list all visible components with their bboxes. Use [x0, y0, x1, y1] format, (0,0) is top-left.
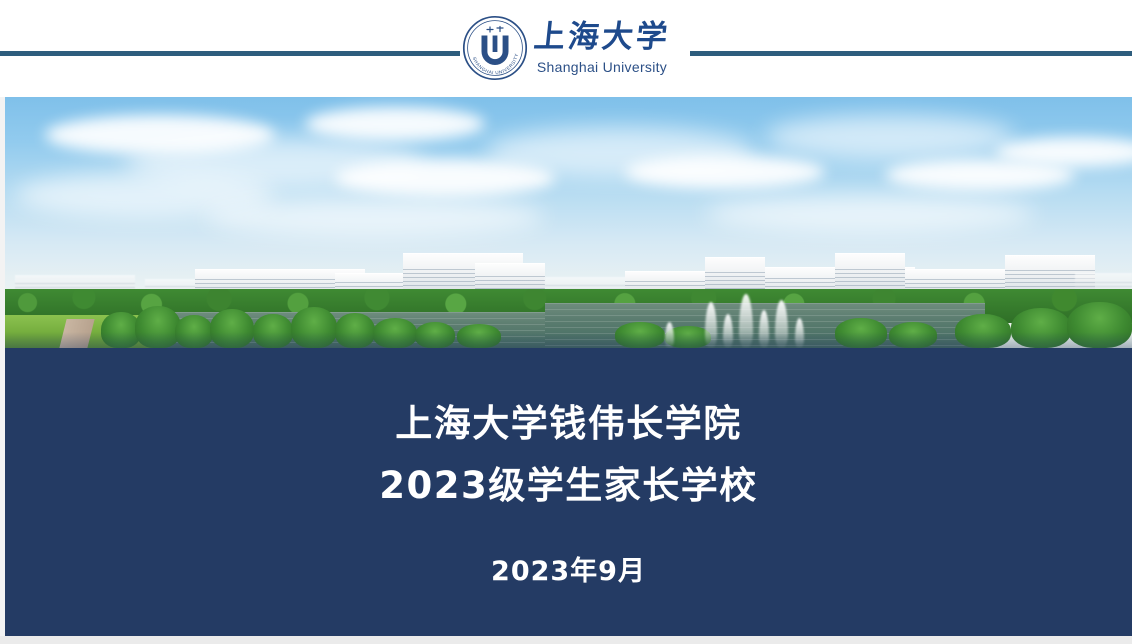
slide-date: 2023年9月 — [491, 549, 646, 588]
campus-banner-image — [5, 97, 1132, 348]
slide-title-line-1: 上海大学钱伟长学院 — [395, 404, 742, 445]
university-seal-icon: SHANGHAI UNIVERSITY — [462, 15, 528, 81]
university-wordmark: 上海大学 Shanghai University — [534, 22, 670, 75]
slide-header: SHANGHAI UNIVERSITY 上海大学 Shanghai Univer… — [0, 0, 1132, 97]
header-rule-right — [690, 51, 1132, 56]
header-rule-left — [0, 51, 460, 56]
presentation-slide: SHANGHAI UNIVERSITY 上海大学 Shanghai Univer… — [0, 0, 1132, 644]
wordmark-chinese: 上海大学 — [532, 22, 671, 53]
university-logo: SHANGHAI UNIVERSITY 上海大学 Shanghai Univer… — [462, 5, 692, 91]
bottom-strip — [0, 636, 1132, 644]
wordmark-english: Shanghai University — [537, 59, 667, 75]
title-panel: 上海大学钱伟长学院 2023级学生家长学校 2023年9月 — [5, 348, 1132, 636]
banner-bottom-fade — [5, 332, 1132, 348]
slide-title-line-2: 2023级学生家长学校 — [379, 466, 757, 507]
